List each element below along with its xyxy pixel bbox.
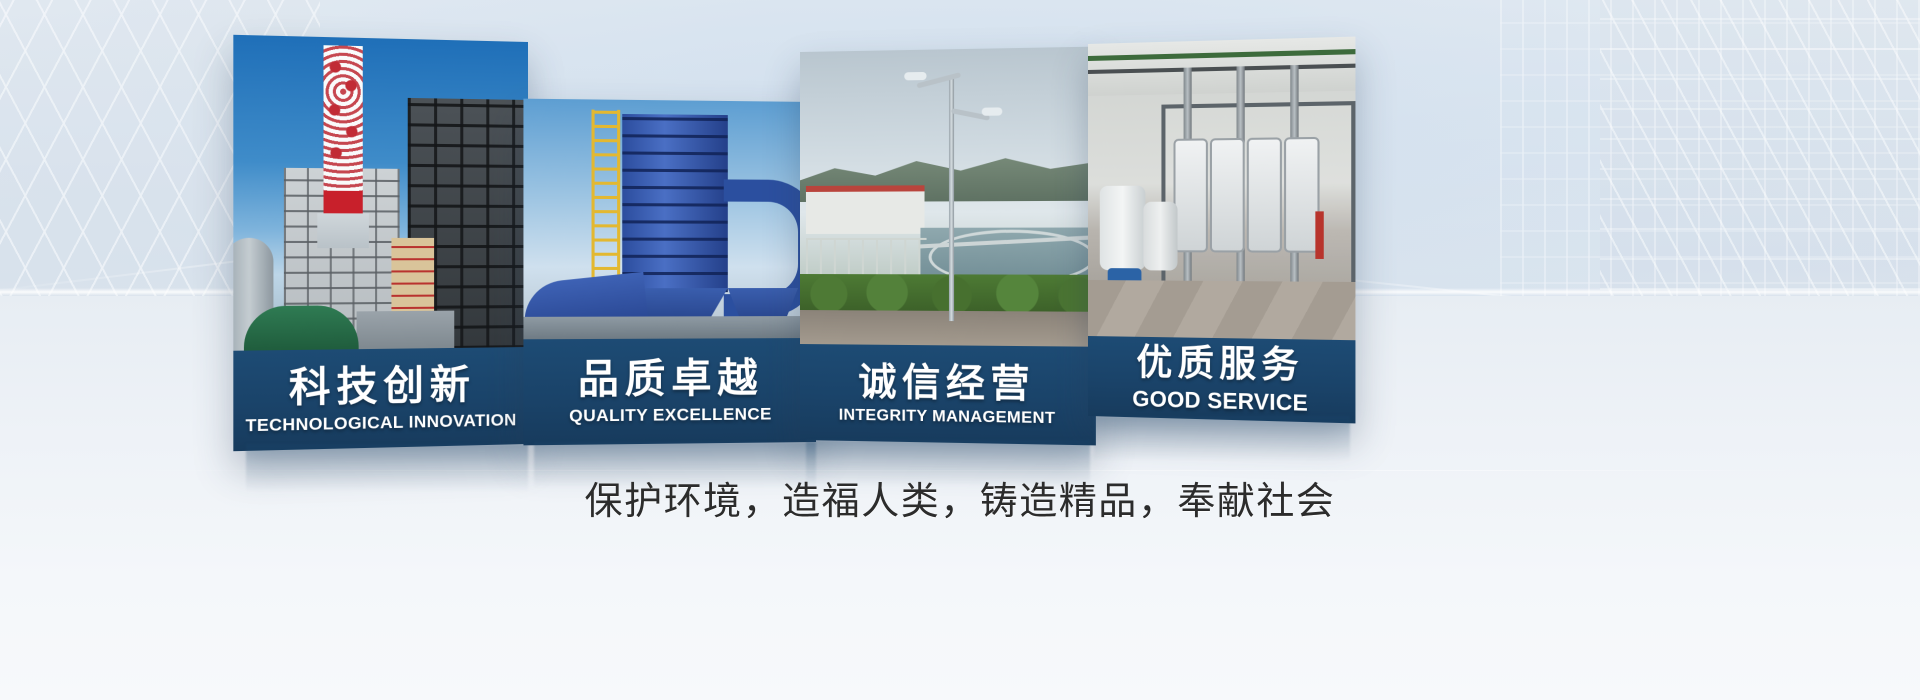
- card-photo-technological-innovation: [233, 35, 528, 351]
- card-caption: 优质服务 GOOD SERVICE: [1088, 336, 1355, 423]
- feature-card-integrity-management[interactable]: 诚信经营 INTEGRITY MANAGEMENT: [800, 47, 1096, 446]
- card-title-en: GOOD SERVICE: [1132, 388, 1308, 415]
- banner-tagline: 保护环境，造福人类，铸造精品，奉献社会: [0, 470, 1920, 525]
- card-photo-quality-excellence: [523, 99, 816, 340]
- feature-card-quality-excellence[interactable]: 品质卓越 QUALITY EXCELLENCE: [523, 99, 816, 446]
- card-photo-integrity-management: [800, 47, 1096, 347]
- card-title-cn: 科技创新: [289, 364, 476, 408]
- card-title-cn: 优质服务: [1136, 344, 1304, 384]
- card-title-cn: 诚信经营: [858, 362, 1035, 403]
- company-banner: 科技创新 TECHNOLOGICAL INNOVATION 品质卓越 QUALI…: [0, 0, 1920, 700]
- card-title-en: INTEGRITY MANAGEMENT: [839, 407, 1056, 427]
- card-title-en: QUALITY EXCELLENCE: [569, 405, 772, 424]
- card-title-en: TECHNOLOGICAL INNOVATION: [245, 411, 516, 434]
- card-caption: 品质卓越 QUALITY EXCELLENCE: [523, 338, 816, 445]
- feature-card-good-service[interactable]: 优质服务 GOOD SERVICE: [1088, 37, 1355, 424]
- card-title-cn: 品质卓越: [578, 358, 763, 400]
- card-caption: 诚信经营 INTEGRITY MANAGEMENT: [800, 344, 1096, 445]
- feature-card-technological-innovation[interactable]: 科技创新 TECHNOLOGICAL INNOVATION: [233, 35, 528, 451]
- card-caption: 科技创新 TECHNOLOGICAL INNOVATION: [233, 347, 528, 451]
- card-photo-good-service: [1088, 37, 1355, 341]
